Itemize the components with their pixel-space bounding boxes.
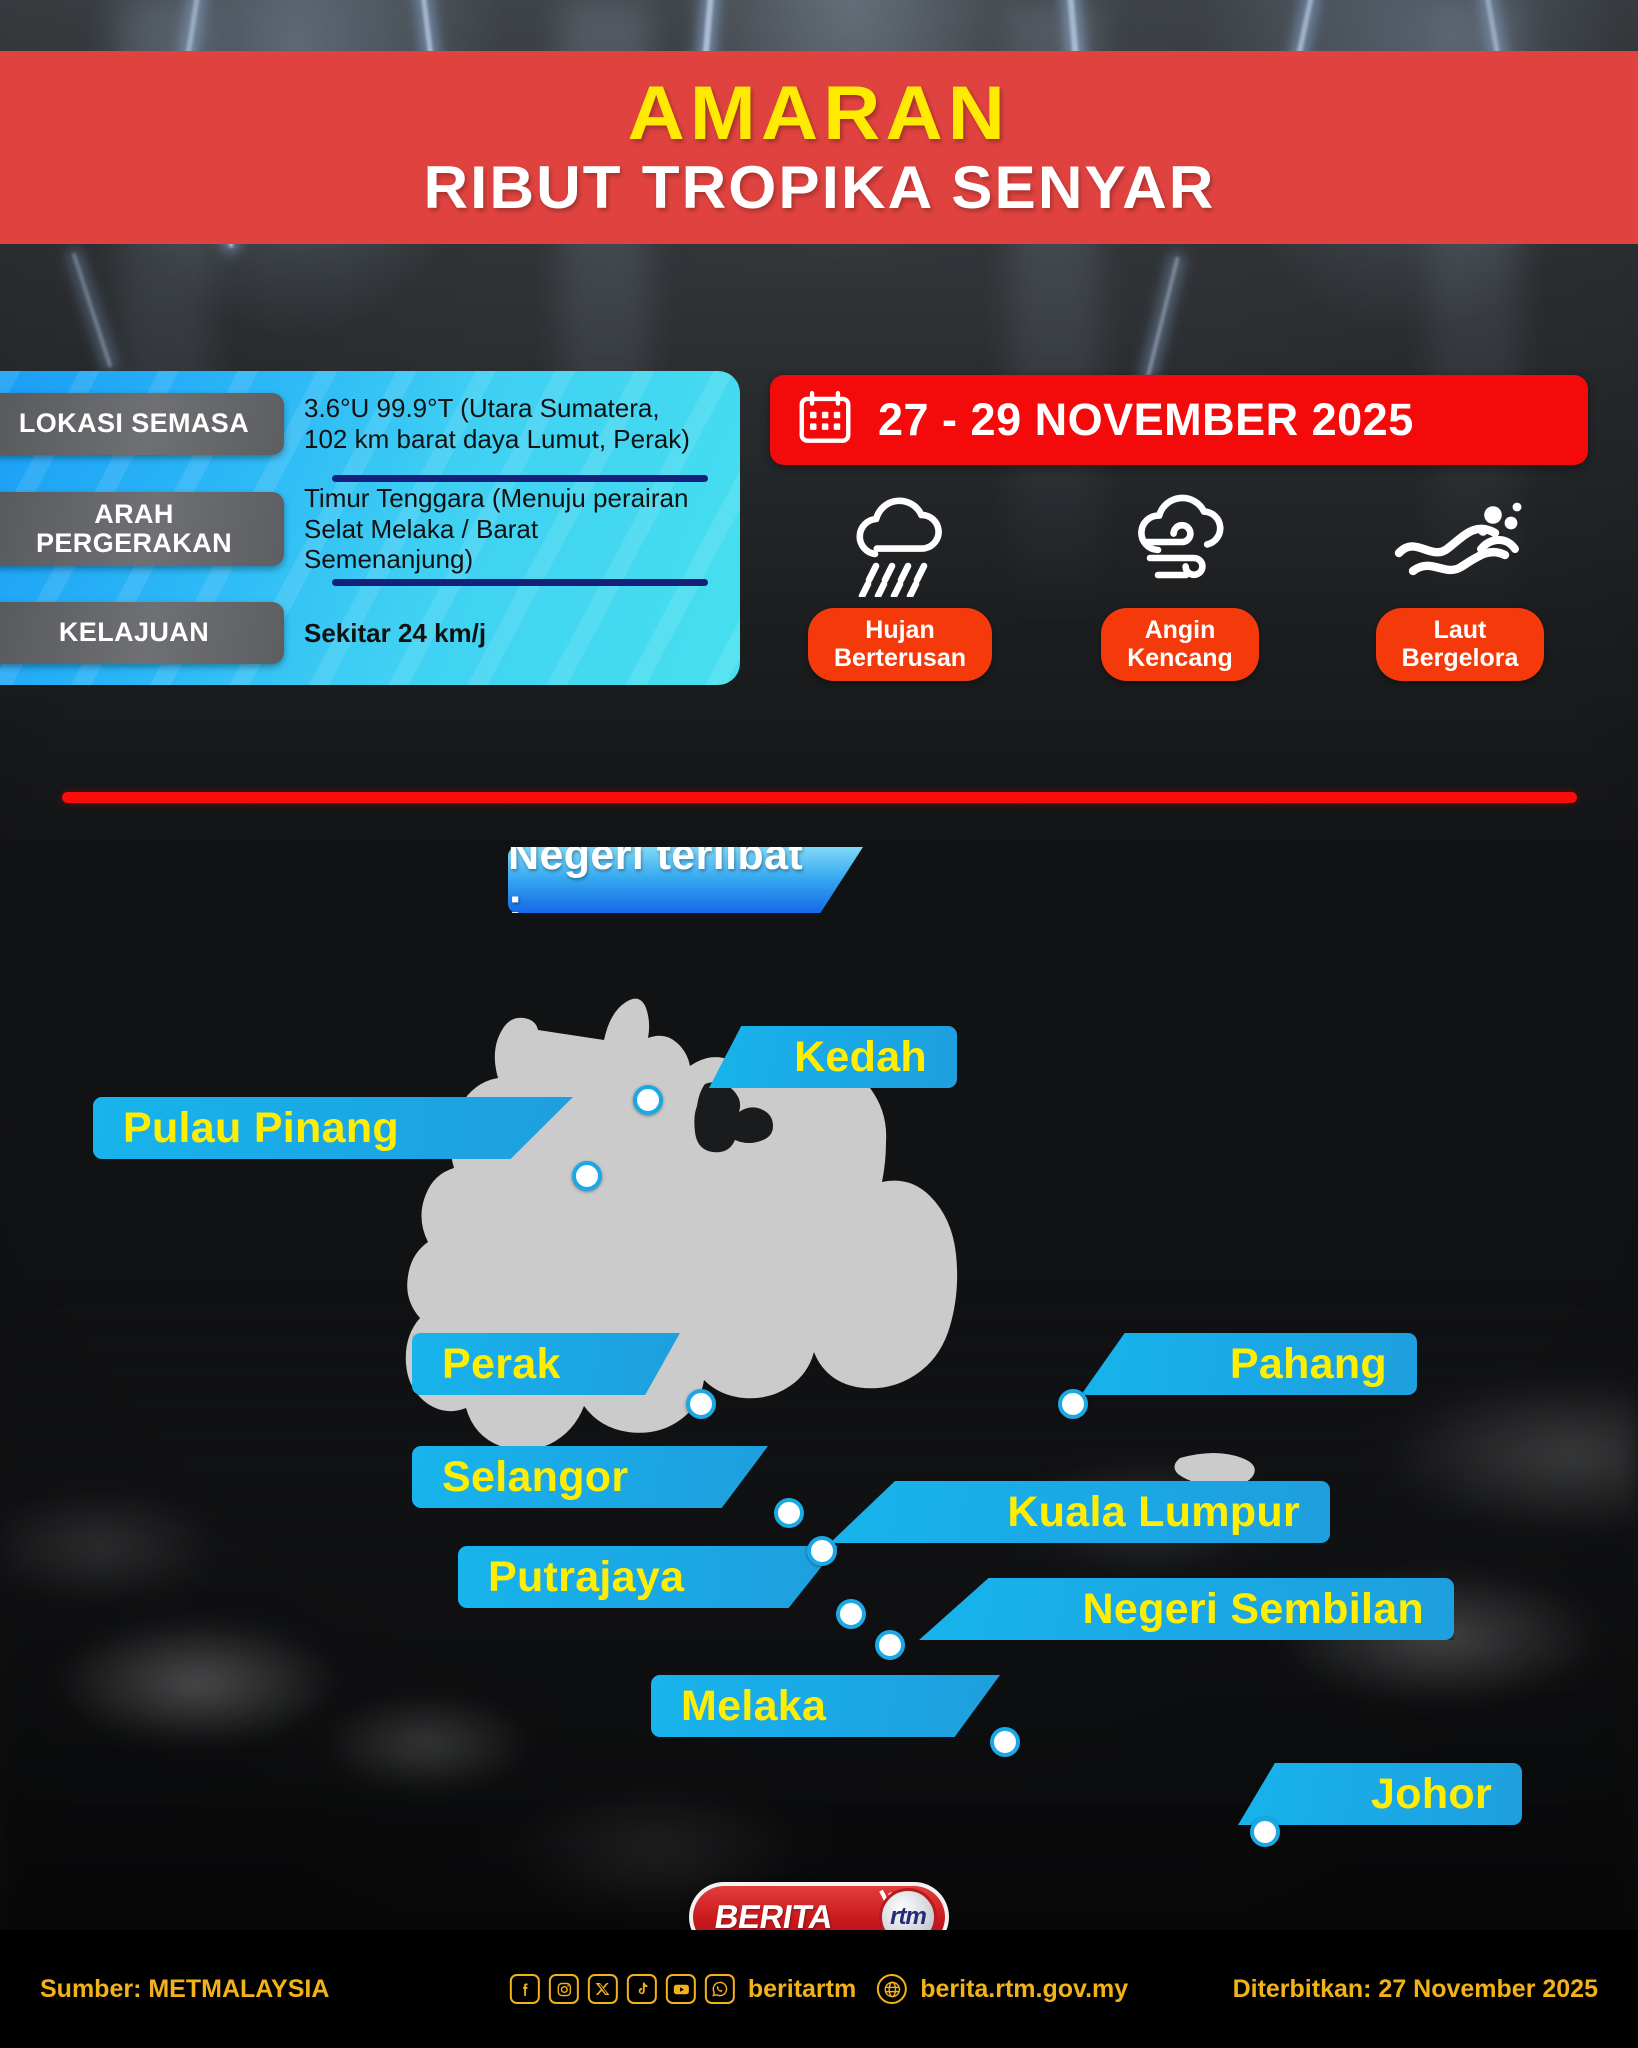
state-label-negeri-sembilan[interactable]: Negeri Sembilan: [919, 1578, 1454, 1640]
map-dot-melaka[interactable]: [990, 1727, 1020, 1757]
footer-published-date: Diterbitkan: 27 November 2025: [1233, 1975, 1598, 2004]
header-subtitle-storm-name: RIBUT TROPIKA SENYAR: [423, 157, 1215, 218]
x-twitter-icon[interactable]: [588, 1974, 618, 2004]
state-label-johor[interactable]: Johor: [1238, 1763, 1522, 1825]
weather-item-wind: Angin Kencang: [1040, 490, 1320, 700]
map-dot-kuala-lumpur[interactable]: [807, 1536, 837, 1566]
state-label-text: Kedah: [794, 1033, 927, 1082]
state-label-melaka[interactable]: Melaka: [651, 1675, 1000, 1737]
map-dot-negeri-sembilan[interactable]: [875, 1630, 905, 1660]
footer-website[interactable]: berita.rtm.gov.my: [920, 1975, 1128, 2004]
info-value-kelajuan: Sekitar 24 km/j: [304, 618, 696, 649]
map-dot-kedah[interactable]: [633, 1085, 663, 1115]
state-label-text: Perak: [442, 1340, 561, 1389]
footer-social-group: beritartm berita.rtm.gov.my: [510, 1974, 1128, 2004]
date-range-bar: 27 - 29 NOVEMBER 2025: [770, 375, 1588, 465]
map-dot-johor[interactable]: [1250, 1817, 1280, 1847]
info-row-speed: KELAJUAN Sekitar 24 km/j: [0, 581, 740, 685]
rain-cloud-icon: [838, 490, 962, 600]
tiktok-icon[interactable]: [627, 1974, 657, 2004]
map-svg: [0, 910, 1638, 1550]
weather-chip-sea: Laut Bergelora: [1376, 608, 1545, 681]
logo-rtm-text: rtm: [890, 1903, 926, 1931]
red-divider: [62, 792, 1577, 803]
storm-info-card: LOKASI SEMASA 3.6°U 99.9°T (Utara Sumate…: [0, 371, 740, 685]
whatsapp-icon[interactable]: [705, 1974, 735, 2004]
state-label-pahang[interactable]: Pahang: [1081, 1333, 1417, 1395]
weather-chip-wind: Angin Kencang: [1101, 608, 1259, 681]
weather-chip-rain: Hujan Berterusan: [808, 608, 992, 681]
calendar-icon: [794, 387, 856, 454]
state-label-kedah[interactable]: Kedah: [709, 1026, 957, 1088]
footer-source: Sumber: METMALAYSIA: [40, 1975, 329, 2004]
state-label-pulau-pinang[interactable]: Pulau Pinang: [93, 1097, 573, 1159]
state-label-putrajaya[interactable]: Putrajaya: [458, 1546, 838, 1608]
state-label-text: Kuala Lumpur: [1007, 1488, 1300, 1537]
footer-bar: Sumber: METMALAYSIA beritartm: [0, 1930, 1638, 2048]
info-rows: LOKASI SEMASA 3.6°U 99.9°T (Utara Sumate…: [0, 371, 740, 685]
info-row-direction: ARAH PERGERAKAN Timur Tenggara (Menuju p…: [0, 477, 740, 581]
footer-social-handle[interactable]: beritartm: [748, 1975, 856, 2004]
info-label-lokasi-semasa: LOKASI SEMASA: [0, 393, 284, 455]
state-label-text: Putrajaya: [488, 1553, 684, 1602]
header-title-amaran: AMARAN: [628, 77, 1010, 151]
peninsular-malaysia-map: [0, 910, 1638, 1550]
state-label-text: Johor: [1371, 1770, 1492, 1819]
weather-chip-sea-line1: Laut: [1402, 617, 1519, 645]
map-dot-pahang[interactable]: [1058, 1389, 1088, 1419]
weather-chip-wind-line2: Kencang: [1127, 645, 1233, 673]
wind-cloud-icon: [1118, 490, 1242, 600]
info-label-arah-pergerakan: ARAH PERGERAKAN: [0, 492, 284, 566]
state-label-text: Melaka: [681, 1682, 826, 1731]
weather-chip-sea-line2: Bergelora: [1402, 645, 1519, 673]
info-label-kelajuan: KELAJUAN: [0, 602, 284, 664]
state-label-selangor[interactable]: Selangor: [412, 1446, 768, 1508]
weather-chip-rain-line1: Hujan: [834, 617, 966, 645]
state-label-perak[interactable]: Perak: [412, 1333, 680, 1395]
map-dot-selangor[interactable]: [774, 1498, 804, 1528]
state-label-text: Negeri Sembilan: [1083, 1585, 1424, 1634]
weather-item-sea: Laut Bergelora: [1320, 490, 1600, 700]
globe-icon: [877, 1974, 907, 2004]
weather-conditions-row: Hujan Berterusan Angin Kencang: [760, 490, 1600, 700]
rough-sea-wave-icon: [1393, 490, 1527, 600]
state-label-text: Selangor: [442, 1453, 628, 1502]
states-banner: Negeri terlibat :: [508, 847, 863, 913]
weather-chip-rain-line2: Berterusan: [834, 645, 966, 673]
map-dot-putrajaya[interactable]: [836, 1599, 866, 1629]
map-dot-pulau-pinang[interactable]: [572, 1161, 602, 1191]
state-label-text: Pahang: [1230, 1340, 1387, 1389]
info-row-location: LOKASI SEMASA 3.6°U 99.9°T (Utara Sumate…: [0, 371, 740, 477]
date-range-text: 27 - 29 NOVEMBER 2025: [878, 394, 1414, 446]
instagram-icon[interactable]: [549, 1974, 579, 2004]
info-value-lokasi-semasa: 3.6°U 99.9°T (Utara Sumatera, 102 km bar…: [304, 393, 696, 454]
youtube-icon[interactable]: [666, 1974, 696, 2004]
warning-header: AMARAN RIBUT TROPIKA SENYAR: [0, 51, 1638, 244]
info-separator: [332, 475, 708, 482]
weather-item-rain: Hujan Berterusan: [760, 490, 1040, 700]
info-separator: [332, 579, 708, 586]
state-label-text: Pulau Pinang: [123, 1104, 399, 1153]
weather-chip-wind-line1: Angin: [1127, 617, 1233, 645]
state-label-kuala-lumpur[interactable]: Kuala Lumpur: [830, 1481, 1330, 1543]
info-value-arah-pergerakan: Timur Tenggara (Menuju perairan Selat Me…: [304, 483, 696, 575]
map-dot-perak[interactable]: [686, 1389, 716, 1419]
facebook-icon[interactable]: [510, 1974, 540, 2004]
